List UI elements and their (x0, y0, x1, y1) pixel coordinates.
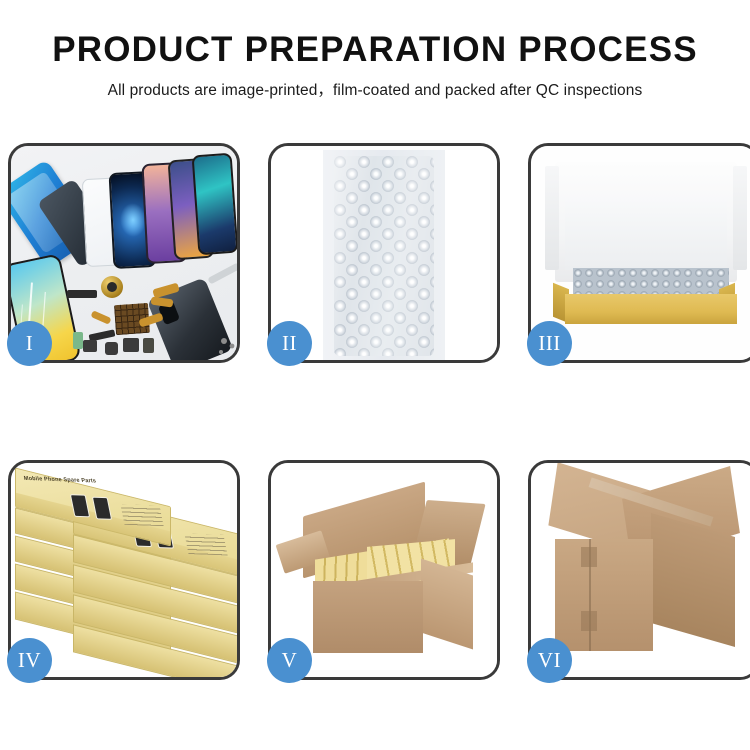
step-badge-6: VI (527, 638, 572, 683)
step-badge-1: I (7, 321, 52, 366)
step-panel-6: VI (528, 460, 750, 680)
small-component-icon (105, 342, 118, 355)
step-panel-5: V (268, 460, 500, 680)
step-badge-2: II (267, 321, 312, 366)
carton-side-face-icon (421, 559, 473, 650)
screws-icon (221, 338, 227, 344)
bubble-wrapped-contents-icon (573, 268, 729, 296)
page-title: PRODUCT PREPARATION PROCESS (0, 30, 750, 69)
box-spec-lines-icon (120, 504, 163, 526)
component-bar-icon (67, 290, 97, 298)
small-component-icon (83, 340, 97, 352)
phone-display-teal-icon (192, 153, 237, 256)
step-badge-5: V (267, 638, 312, 683)
foam-liner-icon (565, 198, 727, 270)
carton-front-face-icon (313, 581, 423, 653)
repair-tool-icon (207, 262, 237, 284)
bubble-gloss-overlay (334, 156, 434, 356)
small-component-icon (73, 332, 83, 349)
product-preparation-infographic: PRODUCT PREPARATION PROCESS All products… (0, 0, 750, 750)
step-panel-1: I (8, 143, 240, 363)
carton-front-face-icon (555, 539, 653, 651)
step-panel-2: II (268, 143, 500, 363)
page-subtitle: All products are image-printed，film-coat… (0, 78, 750, 100)
step-panel-4: Mobile Phone Spare Parts Mobile Phone Sp… (8, 460, 240, 680)
carton-tab-icon (581, 611, 597, 631)
carton-right-face-icon (651, 513, 735, 647)
header: PRODUCT PREPARATION PROCESS All products… (0, 0, 750, 100)
step-badge-4: IV (7, 638, 52, 683)
process-steps-grid: I II III (8, 143, 744, 680)
small-component-icon (123, 338, 139, 352)
kraft-box-front-icon (565, 294, 737, 324)
step-panel-3: III (528, 143, 750, 363)
box-spec-lines-icon (184, 533, 227, 555)
speaker-coil-icon (101, 276, 123, 298)
step-badge-3: III (527, 321, 572, 366)
carton-tab-icon (581, 547, 597, 567)
small-component-icon (143, 338, 154, 353)
flex-cable-icon (90, 310, 111, 325)
